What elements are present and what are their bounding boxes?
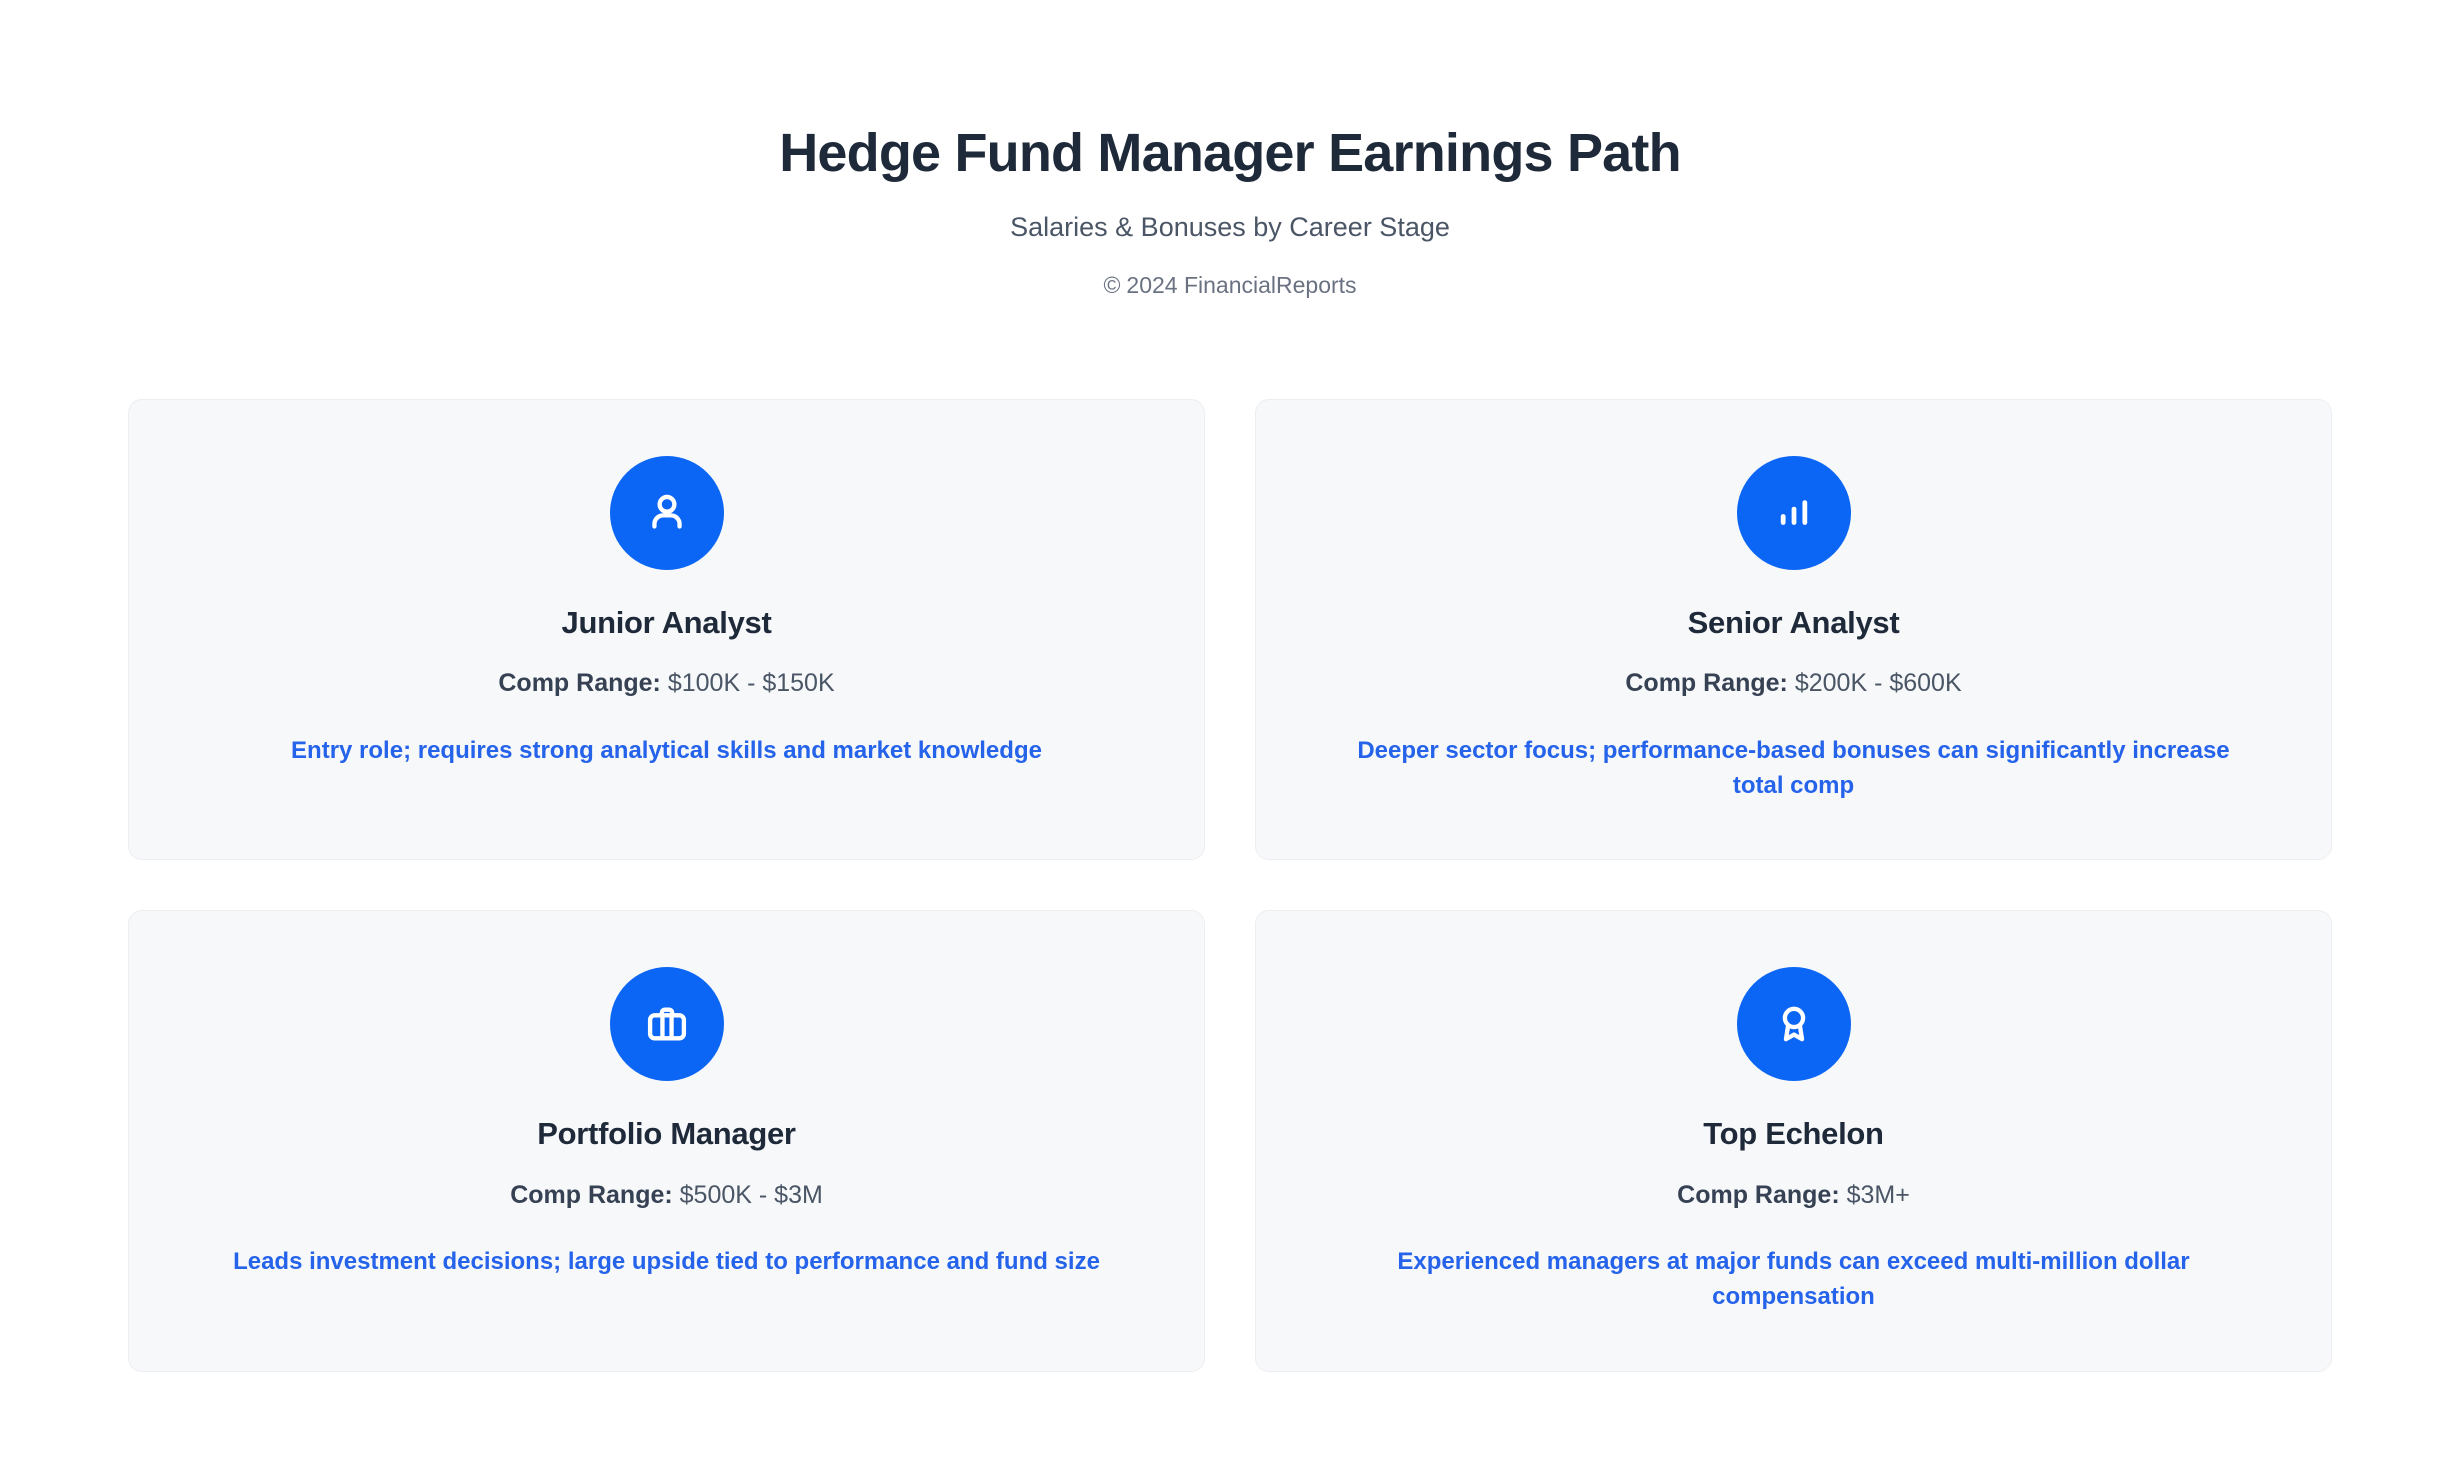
card-description: Leads investment decisions; large upside… [233,1245,1100,1280]
career-stage-card[interactable]: Junior Analyst Comp Range: $100K - $150K… [128,399,1205,860]
page-subtitle: Salaries & Bonuses by Career Stage [0,210,2460,245]
page-root: Hedge Fund Manager Earnings Path Salarie… [0,0,2460,1480]
briefcase-icon [610,967,724,1081]
card-comp-range: Comp Range: $100K - $150K [498,667,834,700]
card-comp-range: Comp Range: $3M+ [1677,1179,1910,1212]
copyright-icon: © [1103,272,1120,298]
comp-range-value: $200K - $600K [1795,669,1962,697]
comp-range-value: $500K - $3M [680,1181,823,1209]
card-title: Junior Analyst [562,604,772,641]
page-header: Hedge Fund Manager Earnings Path Salarie… [0,0,2460,301]
comp-range-label: Comp Range: [1625,669,1788,697]
award-icon [1737,967,1851,1081]
comp-range-label: Comp Range: [510,1181,673,1209]
copyright-line: ©2024 FinancialReports [0,271,2460,301]
card-description: Experienced managers at major funds can … [1344,1245,2244,1315]
card-description: Entry role; requires strong analytical s… [291,734,1042,769]
comp-range-label: Comp Range: [498,669,661,697]
card-title: Top Echelon [1703,1115,1883,1152]
bar-chart-icon [1737,456,1851,570]
card-comp-range: Comp Range: $200K - $600K [1625,667,1961,700]
person-icon [610,456,724,570]
career-stage-card-grid: Junior Analyst Comp Range: $100K - $150K… [128,399,2332,1372]
comp-range-value: $3M+ [1847,1181,1910,1209]
copyright-text: 2024 FinancialReports [1126,272,1356,298]
career-stage-card[interactable]: Senior Analyst Comp Range: $200K - $600K… [1255,399,2332,860]
comp-range-value: $100K - $150K [668,669,835,697]
card-comp-range: Comp Range: $500K - $3M [510,1179,823,1212]
page-title: Hedge Fund Manager Earnings Path [0,122,2460,184]
comp-range-label: Comp Range: [1677,1181,1840,1209]
card-title: Portfolio Manager [537,1115,795,1152]
career-stage-card[interactable]: Portfolio Manager Comp Range: $500K - $3… [128,910,1205,1371]
card-description: Deeper sector focus; performance-based b… [1344,734,2244,804]
card-title: Senior Analyst [1688,604,1900,641]
career-stage-card[interactable]: Top Echelon Comp Range: $3M+ Experienced… [1255,910,2332,1371]
